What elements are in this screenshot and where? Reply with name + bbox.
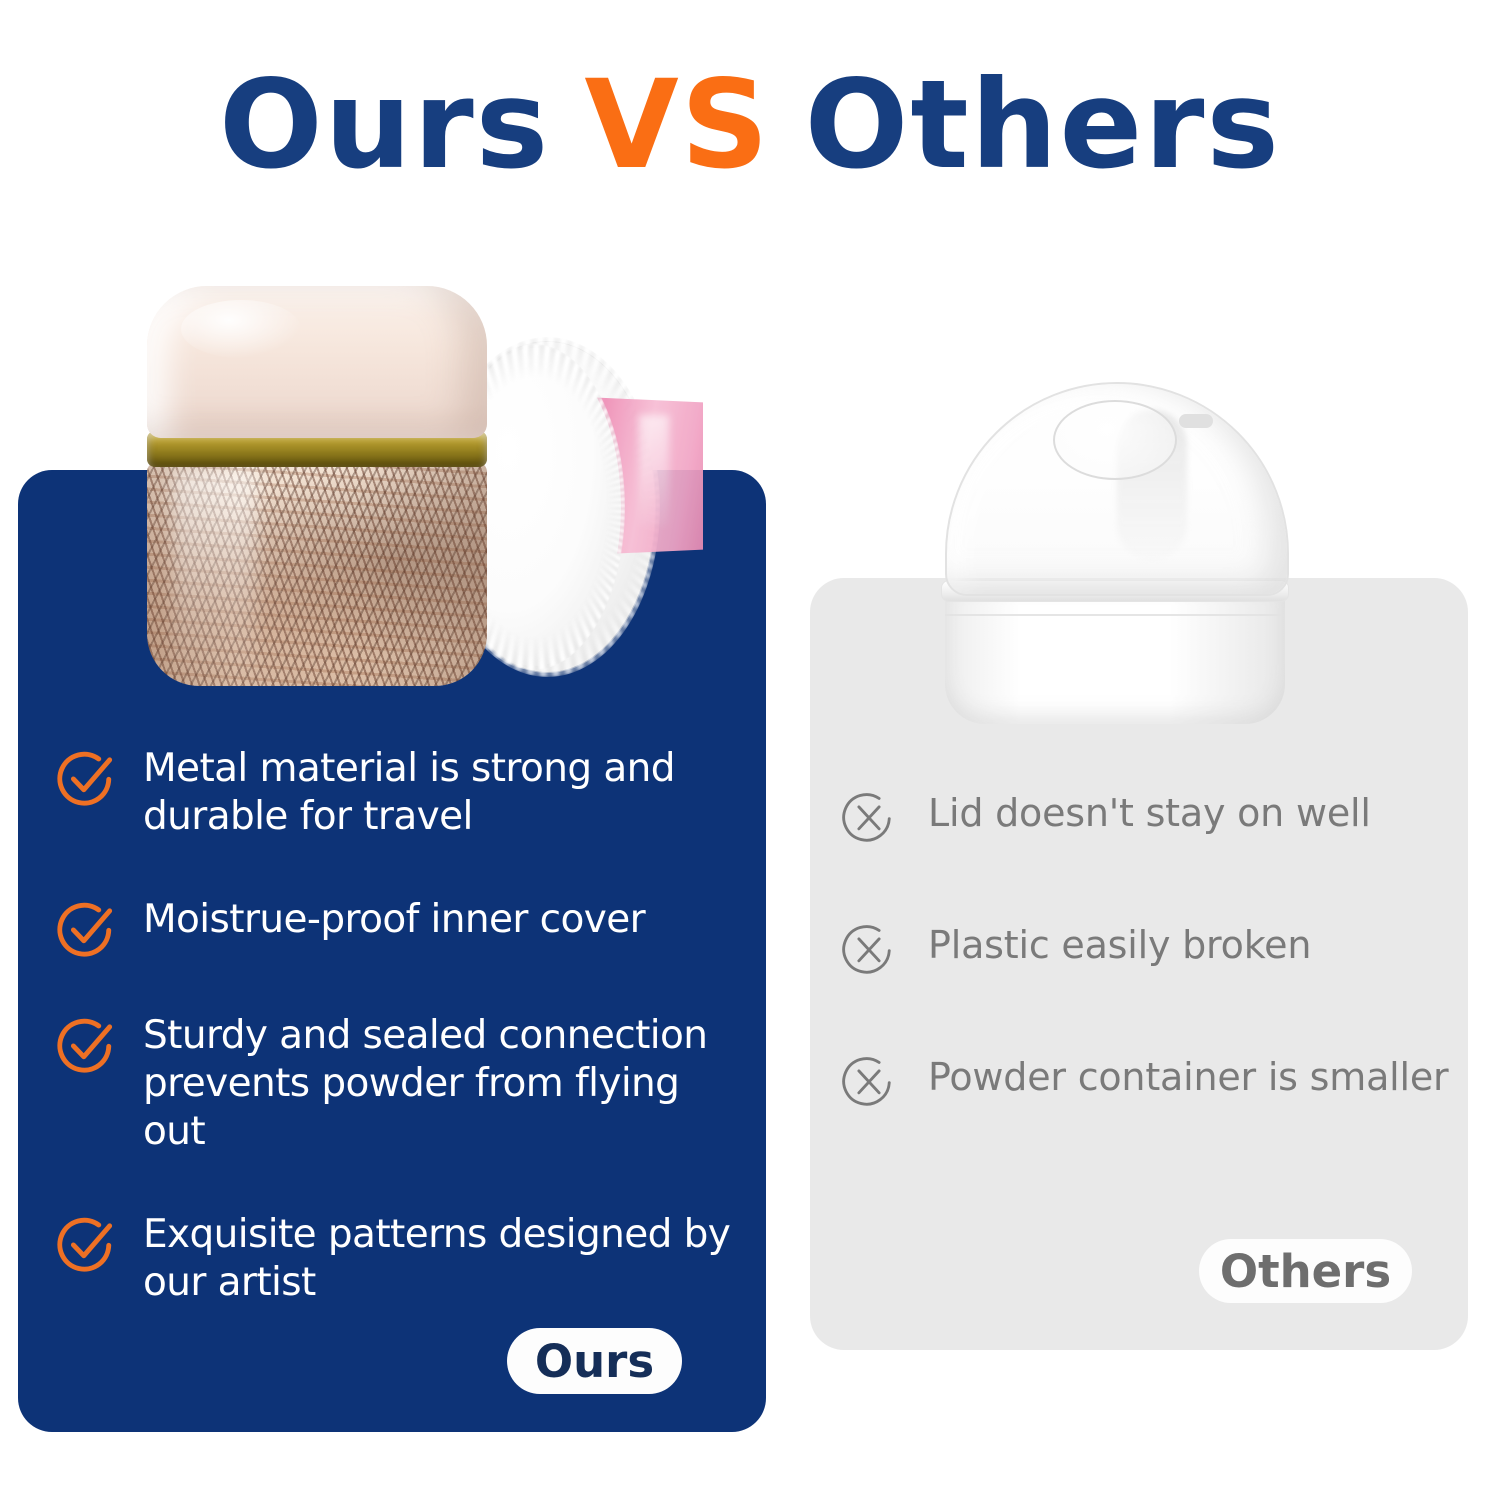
ours-feature-label: Metal material is strong and durable for… — [143, 745, 740, 842]
others-feature-label: Lid doesn't stay on well — [928, 790, 1371, 837]
others-feature-item: Lid doesn't stay on well — [810, 790, 1468, 844]
x-circle-icon — [842, 790, 896, 844]
ours-feature-item: Metal material is strong and durable for… — [18, 745, 766, 842]
others-feature-list: Lid doesn't stay on well Plastic easily … — [810, 790, 1468, 1186]
others-product-image — [915, 382, 1315, 727]
ours-feature-list: Metal material is strong and durable for… — [18, 745, 766, 1362]
jar-patterned-body — [147, 462, 487, 686]
comparison-infographic: OursVSOthers Metal material is strong an… — [0, 0, 1500, 1500]
x-circle-icon — [842, 922, 896, 976]
ours-badge: Ours — [507, 1328, 682, 1394]
ours-feature-item: Exquisite patterns designed by our artis… — [18, 1211, 766, 1308]
ours-feature-label: Moistrue-proof inner cover — [143, 896, 645, 944]
title-ours-word: Ours — [219, 54, 550, 196]
ours-feature-label: Exquisite patterns designed by our artis… — [143, 1211, 740, 1308]
others-feature-item: Powder container is smaller — [810, 1054, 1468, 1108]
plastic-base — [945, 596, 1285, 724]
others-feature-label: Powder container is smaller — [928, 1054, 1448, 1101]
others-feature-item: Plastic easily broken — [810, 922, 1468, 976]
check-circle-icon — [58, 1215, 116, 1273]
page-title: OursVSOthers — [0, 58, 1500, 192]
x-circle-icon — [842, 1054, 896, 1108]
dome-nub — [1179, 414, 1213, 428]
ours-feature-item: Moistrue-proof inner cover — [18, 896, 766, 958]
ours-product-image — [130, 286, 730, 686]
check-circle-icon — [58, 900, 116, 958]
clear-dome-lid — [945, 382, 1289, 596]
check-circle-icon — [58, 1016, 116, 1074]
ours-feature-item: Sturdy and sealed connection prevents po… — [18, 1012, 766, 1157]
dome-highlight — [1117, 410, 1187, 560]
others-feature-label: Plastic easily broken — [928, 922, 1311, 969]
ours-feature-label: Sturdy and sealed connection prevents po… — [143, 1012, 740, 1157]
jar-cream-lid — [147, 286, 487, 438]
others-badge: Others — [1199, 1239, 1412, 1303]
check-circle-icon — [58, 749, 116, 807]
title-vs-word: VS — [584, 54, 770, 196]
title-others-word: Others — [805, 54, 1281, 196]
